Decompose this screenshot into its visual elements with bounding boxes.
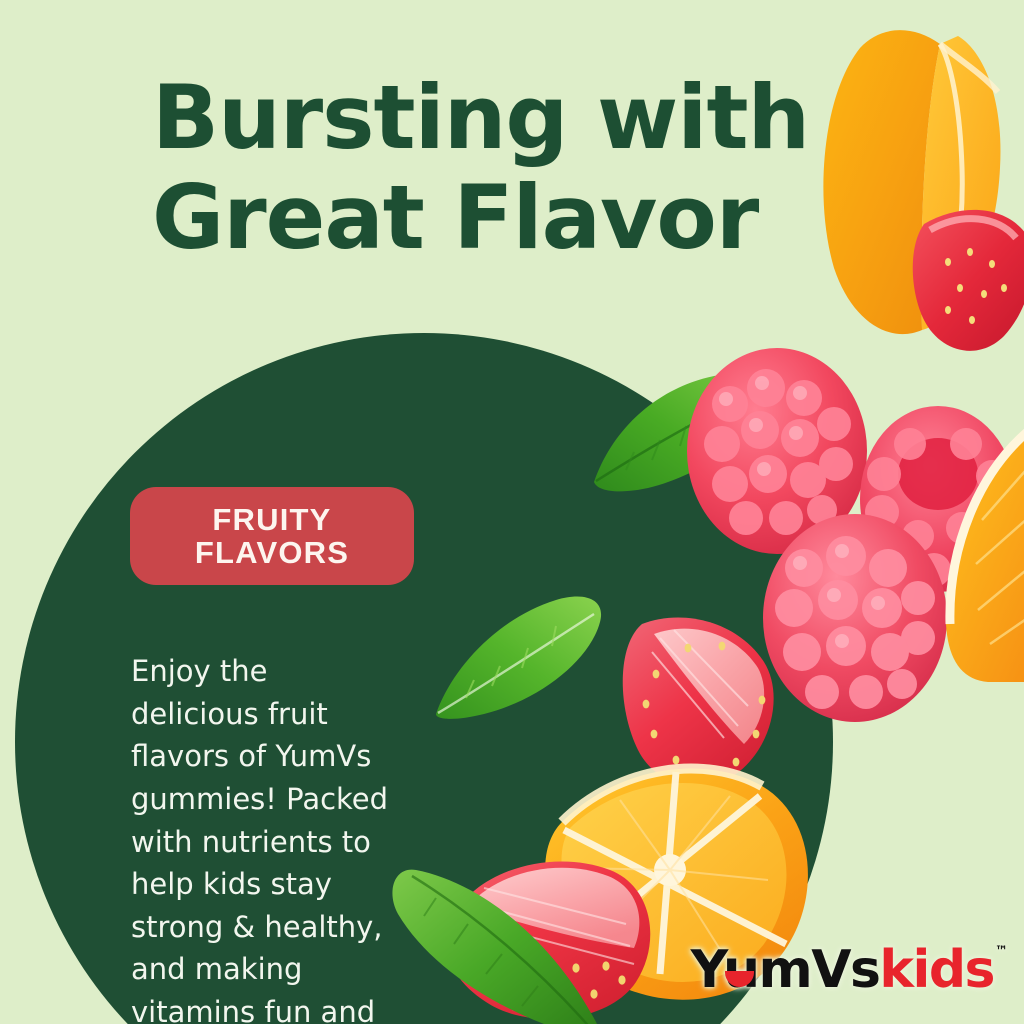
- raspberry-upper-right-icon: [858, 404, 1018, 594]
- badge-line-1: FRUITY: [212, 503, 331, 536]
- strawberry-half-top-right-icon: [908, 196, 1024, 356]
- badge-line-2: FLAVORS: [195, 536, 349, 569]
- promo-canvas: Bursting with Great Flavor FRUITY FLAVOR…: [0, 0, 1024, 1024]
- logo-yumvs-text: YumVs: [691, 940, 880, 1000]
- page-title: Bursting with Great Flavor: [152, 68, 852, 269]
- orange-slice-right-edge-icon: [936, 424, 1024, 684]
- brand-logo: YumVs kids™: [691, 944, 1008, 996]
- fruity-flavors-badge: FRUITY FLAVORS: [130, 487, 414, 585]
- headline-line-1: Bursting with: [152, 68, 852, 168]
- logo-yumvs: YumVs: [691, 944, 880, 996]
- logo-trademark-icon: ™: [995, 944, 1008, 959]
- headline-line-2: Great Flavor: [152, 168, 852, 268]
- logo-kids: kids: [879, 944, 994, 996]
- body-copy: Enjoy the delicious fruit flavors of Yum…: [131, 650, 399, 1024]
